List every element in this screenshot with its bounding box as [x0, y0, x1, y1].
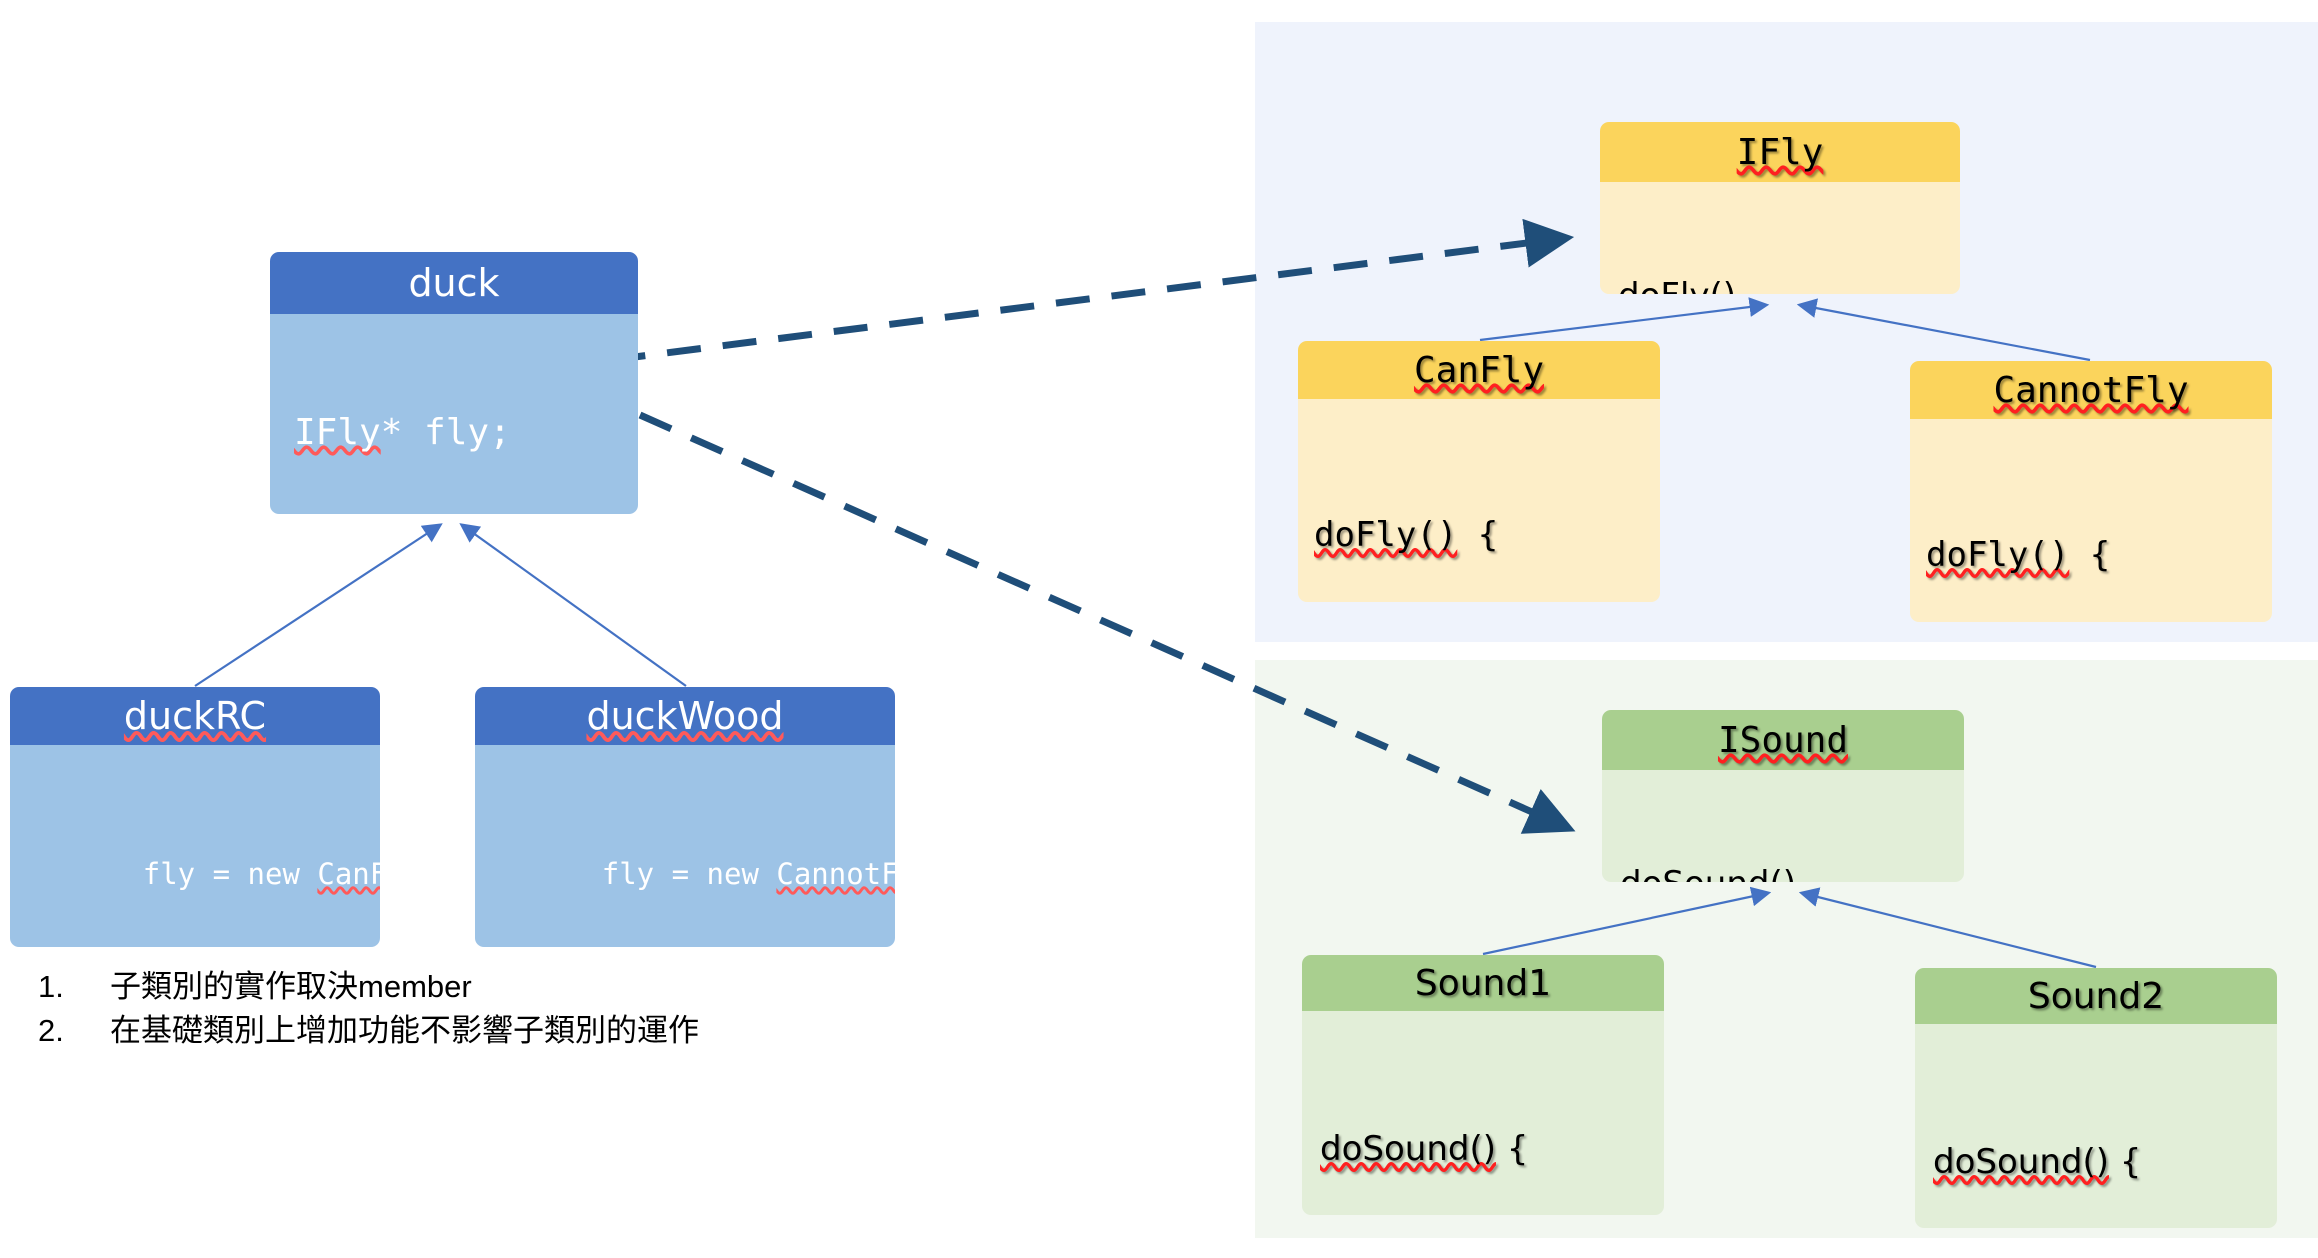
class-box-cannotfly[interactable]: CannotFly doFly() { “Cannot fly” } — [1910, 361, 2272, 622]
member-type: IFly — [294, 412, 381, 453]
method-name: doFly() — [1926, 535, 2069, 575]
assign-prefix: fly = new — [143, 857, 318, 891]
class-body-duckwood: fly = new CannotFly() — [475, 745, 895, 947]
class-title-cannotfly: CannotFly — [1910, 361, 2272, 419]
note-item: 1. 子類別的實作取決member — [38, 965, 858, 1009]
class-title-ifly-label: IFly — [1737, 132, 1824, 173]
note-number: 1. — [38, 965, 110, 1009]
inheritance-duckwood-to-duck — [462, 525, 686, 686]
diagram-canvas: IFly (dashed dependency) --> ISound (das… — [0, 0, 2318, 1258]
class-body-isound: doSound() … — [1602, 770, 1964, 882]
method-row: doFly() { — [1314, 514, 1660, 558]
class-box-sound1[interactable]: Sound1 doSound() { “Sound1” } — [1302, 955, 1664, 1215]
class-box-duckwood[interactable]: duckWood fly = new CannotFly() — [475, 687, 895, 947]
class-title-isound: ISound — [1602, 710, 1964, 770]
class-title-duckrc-label: duckRC — [124, 694, 266, 738]
class-title-duckwood-label: duckWood — [586, 694, 783, 738]
assign-type: CanFly — [317, 857, 380, 891]
note-text: 在基礎類別上增加功能不影響子類別的運作 — [110, 1009, 858, 1053]
method-name: doSound() — [1320, 1129, 1496, 1169]
brace-open: { — [2069, 535, 2110, 575]
note-text: 子類別的實作取決member — [110, 965, 858, 1009]
class-box-duck[interactable]: duck IFly* fly; Isound* sound; … — [270, 252, 638, 514]
method-row: doFly() — [1618, 275, 1960, 294]
method-name: doFly() — [1314, 515, 1457, 555]
class-box-sound2[interactable]: Sound2 doSound() { “Sound2” } — [1915, 968, 2277, 1228]
brace-open: { — [1457, 515, 1498, 555]
brace-open: { — [2109, 1142, 2141, 1182]
class-body-sound1: doSound() { “Sound1” } — [1302, 1011, 1664, 1215]
class-title-duckwood: duckWood — [475, 687, 895, 745]
method-row: doSound() { — [1320, 1128, 1664, 1172]
method-row: doSound() — [1620, 863, 1964, 882]
class-title-sound1-label: Sound1 — [1415, 963, 1551, 1004]
method-name: doFly() — [1618, 276, 1736, 294]
class-title-ifly: IFly — [1600, 122, 1960, 182]
class-body-ifly: doFly() … — [1600, 182, 1960, 294]
method-row: doFly() { — [1926, 534, 2272, 578]
method-name: doSound() — [1620, 864, 1796, 882]
class-title-isound-label: ISound — [1718, 720, 1848, 761]
class-body-cannotfly: doFly() { “Cannot fly” } — [1910, 419, 2272, 622]
class-box-duckrc[interactable]: duckRC fly = new CanFly() — [10, 687, 380, 947]
class-title-duck: duck — [270, 252, 638, 314]
notes-list: 1. 子類別的實作取決member 2. 在基礎類別上增加功能不影響子類別的運作 — [38, 965, 858, 1053]
class-title-duck-label: duck — [408, 261, 499, 305]
assign-prefix: fly = new — [602, 857, 777, 891]
method-name: doSound() — [1933, 1142, 2109, 1182]
method-row: doSound() { — [1933, 1141, 2277, 1185]
note-item: 2. 在基礎類別上增加功能不影響子類別的運作 — [38, 1009, 858, 1053]
class-body-duck: IFly* fly; Isound* sound; … — [270, 314, 638, 514]
brace-open: { — [1496, 1129, 1528, 1169]
class-body-sound2: doSound() { “Sound2” } — [1915, 1024, 2277, 1228]
member-rest: * fly; — [381, 412, 511, 453]
member-row: IFly* fly; — [294, 412, 638, 454]
class-box-canfly[interactable]: CanFly doFly() { “Can fly” } — [1298, 341, 1660, 602]
class-body-canfly: doFly() { “Can fly” } — [1298, 399, 1660, 602]
class-box-ifly[interactable]: IFly doFly() … — [1600, 122, 1960, 294]
class-title-duckrc: duckRC — [10, 687, 380, 745]
note-number: 2. — [38, 1009, 110, 1053]
class-title-canfly: CanFly — [1298, 341, 1660, 399]
class-title-sound2: Sound2 — [1915, 968, 2277, 1024]
class-body-duckrc: fly = new CanFly() — [10, 745, 380, 947]
assign-type: CannotFly — [776, 857, 895, 891]
class-title-cannotfly-label: CannotFly — [1993, 370, 2188, 411]
class-title-sound1: Sound1 — [1302, 955, 1664, 1011]
inheritance-duckrc-to-duck — [195, 525, 440, 686]
class-title-sound2-label: Sound2 — [2028, 976, 2164, 1017]
class-box-isound[interactable]: ISound doSound() … — [1602, 710, 1964, 882]
class-title-canfly-label: CanFly — [1414, 350, 1544, 391]
